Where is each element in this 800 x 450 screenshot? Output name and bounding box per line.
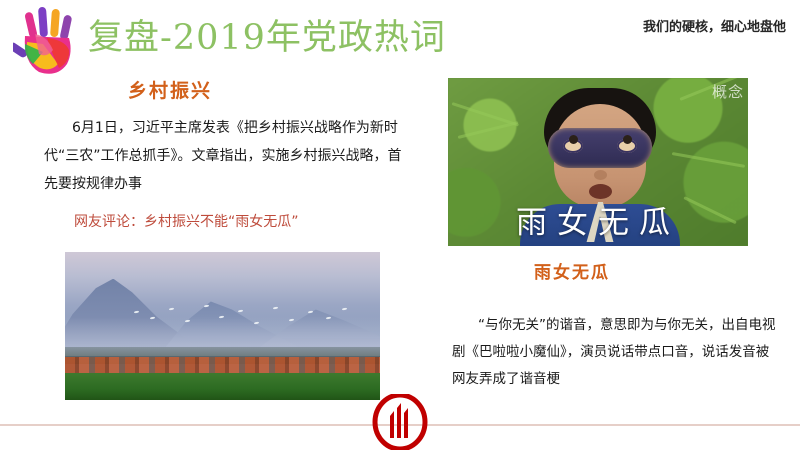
- photo-overlay-caption: 雨女无瓜: [448, 206, 748, 240]
- section-heading-rural-revitalization: 乡村振兴: [128, 76, 212, 103]
- handprint-icon: [13, 6, 89, 78]
- photo-watermark: 概念: [712, 81, 744, 102]
- slide-canvas: 复盘-2019年党政热词 我们的硬核，细心地盘他 乡村振兴 6月1日，习近平主席…: [0, 0, 800, 450]
- left-body-paragraph: 6月1日，习近平主席发表《把乡村振兴战略作为新时代“三农”工作总抓手》。文章指出…: [44, 114, 412, 198]
- photo-subject-mouth: [589, 184, 612, 199]
- right-body-paragraph: “与你无关”的谐音，意思即为与你无关，出自电视剧《巴啦啦小魔仙》，演员说话带点口…: [452, 312, 782, 393]
- photo-subject-mask: [548, 128, 652, 168]
- photo-subject-eye-right: [623, 135, 632, 144]
- meme-photo: 概念 雨女无瓜: [448, 78, 748, 246]
- landscape-green-field: [65, 373, 380, 400]
- netizen-comment: 网友评论：乡村振兴不能“雨女无瓜”: [74, 210, 414, 234]
- page-title: 复盘-2019年党政热词: [88, 16, 446, 60]
- landscape-village-roofs: [65, 357, 380, 375]
- company-circle-logo-icon: [368, 394, 432, 450]
- meme-photo-caption: 雨女无瓜: [534, 258, 610, 283]
- photo-subject-eye-left: [569, 135, 578, 144]
- photo-subject-nose: [594, 170, 607, 180]
- header-tagline: 我们的硬核，细心地盘他: [643, 16, 786, 35]
- rural-landscape-photo: [65, 252, 380, 400]
